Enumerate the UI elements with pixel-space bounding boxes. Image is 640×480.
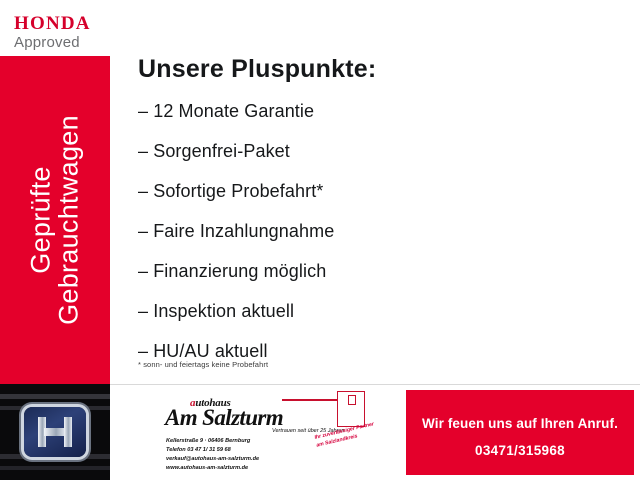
- list-item: – Sorgenfrei-Paket: [138, 142, 618, 160]
- address-line: Telefon 03 47 1/ 31 59 68: [166, 446, 259, 455]
- address-line: Kellerstraße 9 · 06406 Bernburg: [166, 437, 259, 446]
- list-item: – HU/AU aktuell: [138, 342, 618, 360]
- dealer-logo: autohaus Am Salzturm Vertrauen seit über…: [162, 391, 392, 475]
- callout-phone-number: 03471/315968: [406, 443, 634, 458]
- banner-text: Geprüfte Gebrauchtwagen: [27, 115, 82, 325]
- address-line-website: www.autohaus-am-salzturm.de: [166, 464, 259, 473]
- grille-slat: [0, 466, 110, 470]
- callout-headline: Wir feuen uns auf Ihren Anruf.: [406, 416, 634, 431]
- banner-line-2: Gebrauchtwagen: [55, 115, 83, 325]
- car-grille-photo: [0, 384, 110, 480]
- benefits-list: – 12 Monate Garantie – Sorgenfrei-Paket …: [138, 102, 618, 360]
- honda-approved-logo: HONDA Approved: [14, 14, 110, 52]
- main-content: Unsere Pluspunkte: – 12 Monate Garantie …: [138, 56, 618, 382]
- advertisement-page: HONDA Approved Geprüfte Gebrauchtwagen U…: [0, 0, 640, 480]
- logo-connector-line: [282, 399, 340, 401]
- call-us-callout: Wir feuen uns auf Ihren Anruf. 03471/315…: [406, 390, 634, 475]
- grille-slat: [0, 394, 110, 399]
- footer-bar: autohaus Am Salzturm Vertrauen seit über…: [110, 384, 640, 480]
- h-glyph: [38, 417, 72, 447]
- footnote-text: * sonn- und feiertags keine Probefahrt: [138, 360, 268, 369]
- list-item: – Sofortige Probefahrt*: [138, 182, 618, 200]
- certified-used-cars-banner: Geprüfte Gebrauchtwagen: [0, 56, 110, 384]
- list-item: – Faire Inzahlungnahme: [138, 222, 618, 240]
- h-crossbar: [44, 428, 66, 436]
- banner-line-1: Geprüfte: [27, 115, 55, 325]
- dealer-address: Kellerstraße 9 · 06406 Bernburg Telefon …: [166, 437, 259, 473]
- list-item: – 12 Monate Garantie: [138, 102, 618, 120]
- honda-wordmark-icon: HONDA: [14, 14, 110, 33]
- address-line-email: verkauf@autohaus-am-salzturm.de: [166, 455, 259, 464]
- list-item: – Inspektion aktuell: [138, 302, 618, 320]
- h-right-stem: [64, 417, 72, 447]
- salt-tower-icon: [337, 391, 365, 427]
- approved-label: Approved: [14, 35, 110, 52]
- dealer-name: Am Salzturm: [165, 405, 283, 431]
- honda-h-emblem-icon: [24, 407, 86, 457]
- list-item: – Finanzierung möglich: [138, 262, 618, 280]
- page-title: Unsere Pluspunkte:: [138, 56, 618, 84]
